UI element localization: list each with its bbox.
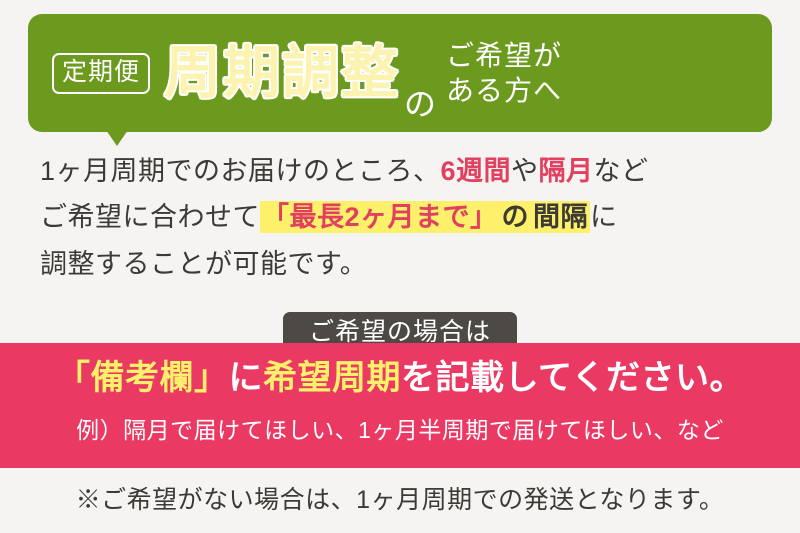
banner-subtext: ご希望が ある方へ [446,38,562,108]
subscription-badge: 定期便 [52,53,150,94]
promo-page: 定期便 周期調整 の ご希望が ある方へ 1ヶ月周期でのお届けのところ、6週間や… [0,0,800,533]
body-line2-highlight-no: の [500,201,532,233]
body-paragraph: 1ヶ月周期でのお届けのところ、6週間や隔月など ご希望に合わせて「最長2ヶ月まで… [40,148,770,287]
banner-subtext-line1: ご希望が [446,38,562,73]
body-line1-part3: など [594,156,649,186]
body-line2-part2: に [590,202,618,232]
footer-note: ※ご希望がない場合は、1ヶ月周期での発送となります。 [76,480,725,516]
body-line1-part1: 1ヶ月周期でのお届けのところ、 [40,156,441,186]
pink-headline-tail: を記載してください。 [401,359,744,397]
pink-headline-remarks: 「備考欄」 [56,359,229,397]
header-banner: 定期便 周期調整 の ご希望が ある方へ [28,14,772,132]
body-line-3: 調整することが可能です。 [40,241,770,287]
body-line1-highlight-bimonthly: 隔月 [539,156,594,186]
body-line2-highlight-maxtwomonths: 「最長2ヶ月まで」 [260,201,500,233]
banner-subtext-line2: ある方へ [446,73,562,108]
banner-headline: 周期調整 [164,45,400,102]
pink-headline-cycle: 希望周期 [263,359,401,397]
body-line1-highlight-6weeks: 6週間 [441,156,512,186]
pink-example-text: 例）隔月で届けてほしい、1ヶ月半周期で届けてほしい、など [76,419,724,442]
pink-headline: 「備考欄」に希望周期を記載してください。 [56,361,744,395]
body-line1-part2: や [511,156,539,186]
body-line2-part1: ご希望に合わせて [40,202,260,232]
body-line2-highlight-interval: 間隔 [531,201,590,233]
body-line-2: ご希望に合わせて「最長2ヶ月まで」の間隔に [40,194,770,240]
pink-callout-band: 「備考欄」に希望周期を記載してください。 例）隔月で届けてほしい、1ヶ月半周期で… [0,343,800,468]
banner-particle: の [404,88,436,132]
pink-headline-ni: に [229,359,264,397]
body-line-1: 1ヶ月周期でのお届けのところ、6週間や隔月など [40,148,770,194]
